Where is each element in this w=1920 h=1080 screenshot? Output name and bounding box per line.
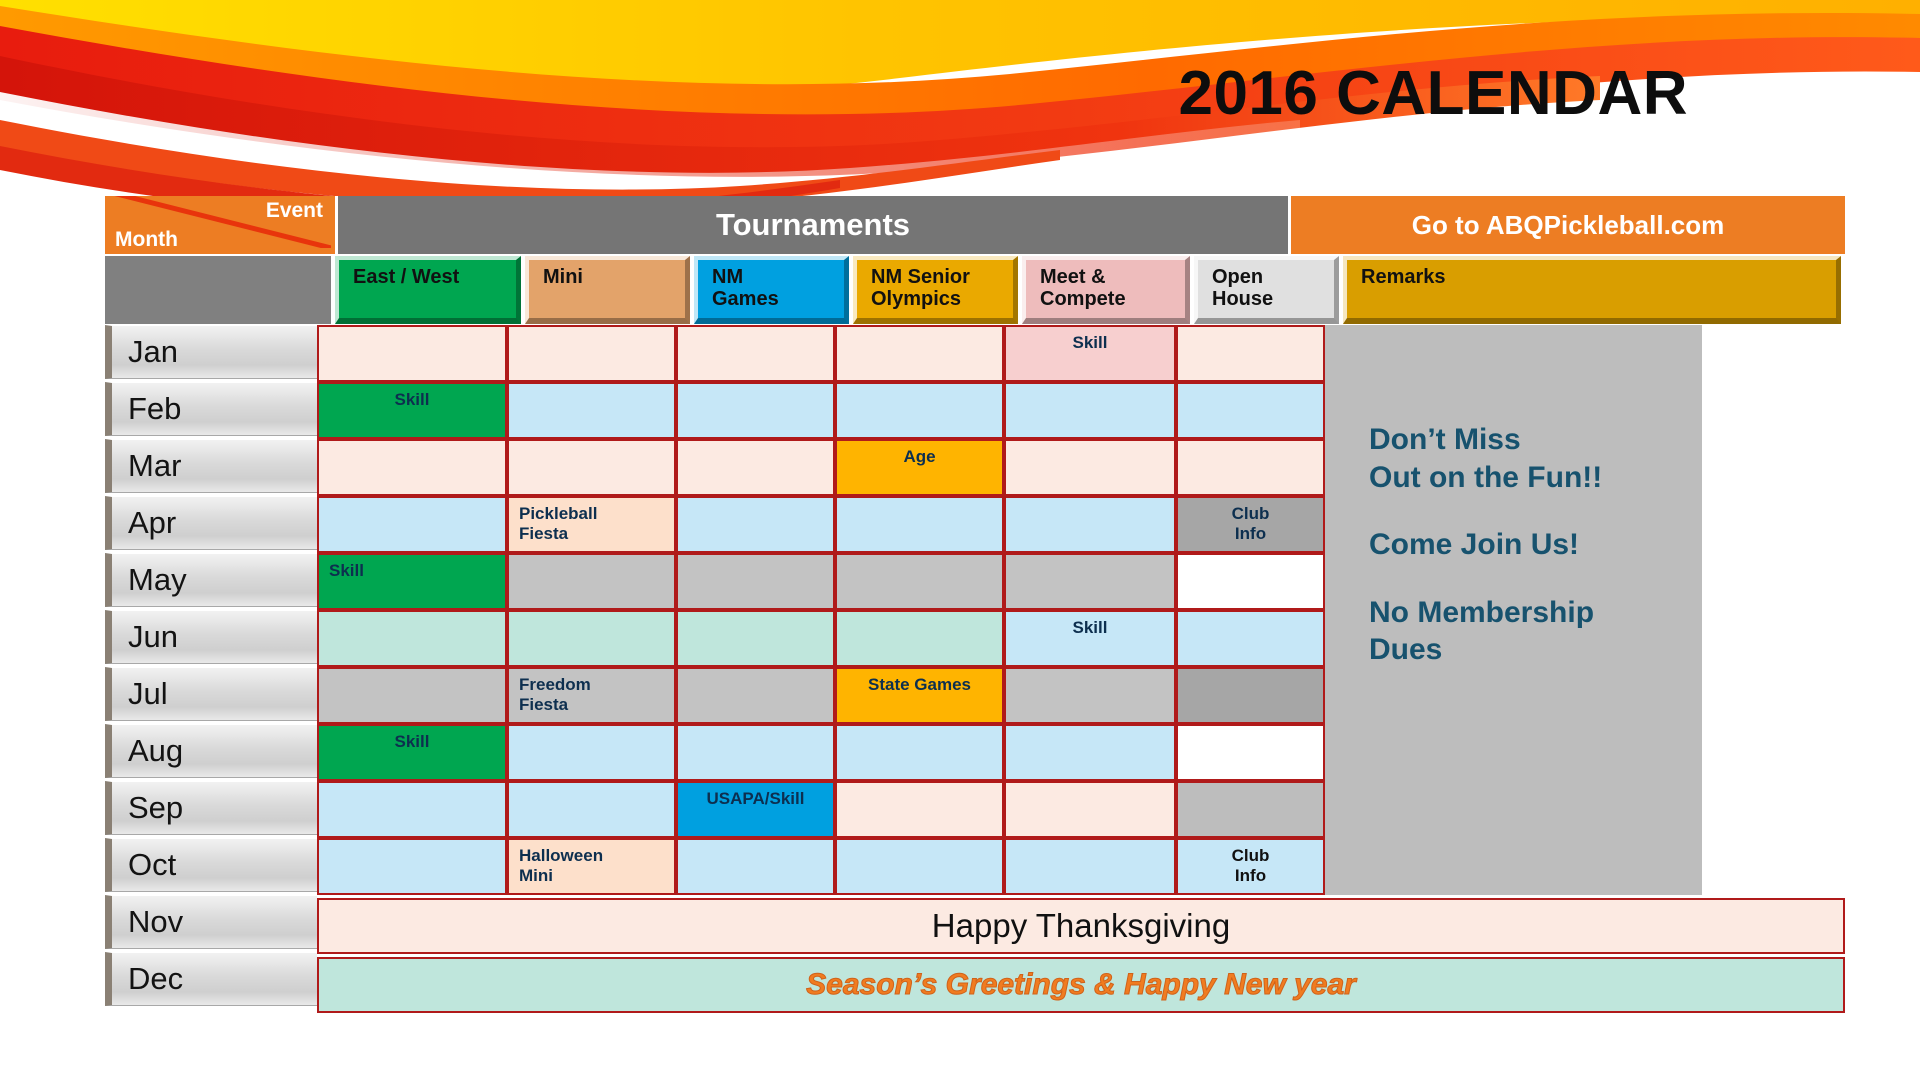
column-header-nm-games[interactable]: NM Games bbox=[694, 256, 849, 324]
corner-month-label: Month bbox=[115, 228, 178, 252]
event-cell[interactable] bbox=[317, 439, 507, 496]
event-cell[interactable] bbox=[676, 382, 835, 439]
website-link-header[interactable]: Go to ABQPickleball.com bbox=[1291, 196, 1845, 254]
event-cell[interactable] bbox=[835, 838, 1004, 895]
event-cell[interactable] bbox=[1004, 553, 1176, 610]
column-header-nm-games-line2: Games bbox=[712, 288, 844, 310]
column-header-remarks[interactable]: Remarks bbox=[1343, 256, 1841, 324]
table-row: Age bbox=[317, 439, 1325, 496]
event-cell[interactable] bbox=[676, 838, 835, 895]
column-header-mini-label: Mini bbox=[543, 266, 685, 288]
month-cell[interactable]: Aug bbox=[105, 724, 317, 778]
remarks-line-5: Dues bbox=[1369, 633, 1442, 666]
event-cell[interactable]: Skill bbox=[317, 724, 507, 781]
column-header-nm-senior-olympics[interactable]: NM Senior Olympics bbox=[853, 256, 1018, 324]
event-cell[interactable] bbox=[835, 724, 1004, 781]
event-cell[interactable] bbox=[835, 553, 1004, 610]
event-cell-line: Mini bbox=[519, 866, 666, 886]
event-cell-line: Fiesta bbox=[519, 524, 666, 544]
event-cell[interactable]: ClubInfo bbox=[1176, 838, 1325, 895]
event-cell[interactable]: ClubInfo bbox=[1176, 496, 1325, 553]
remarks-line-3: Come Join Us! bbox=[1369, 528, 1579, 561]
event-cell[interactable] bbox=[1004, 667, 1176, 724]
event-cell[interactable] bbox=[507, 382, 676, 439]
event-cell-line: Club bbox=[1178, 846, 1323, 866]
event-cell-line: Skill bbox=[1006, 618, 1174, 638]
event-cell-line: Skill bbox=[329, 561, 497, 581]
month-cell[interactable]: Nov bbox=[105, 895, 317, 949]
table-row: USAPA/Skill bbox=[317, 781, 1325, 838]
november-banner-row: Happy Thanksgiving bbox=[317, 898, 1845, 954]
event-cell[interactable] bbox=[507, 553, 676, 610]
column-header-nm-games-line1: NM bbox=[712, 266, 844, 288]
event-cell[interactable] bbox=[1176, 781, 1325, 838]
event-cell[interactable] bbox=[1004, 781, 1176, 838]
december-banner-row: Season’s Greetings & Happy New year bbox=[317, 957, 1845, 1013]
remarks-line-1: Don’t Miss bbox=[1369, 423, 1521, 456]
event-cell[interactable] bbox=[1176, 667, 1325, 724]
event-cell[interactable] bbox=[1176, 610, 1325, 667]
column-header-meet-compete-line1: Meet & bbox=[1040, 266, 1185, 288]
event-cell[interactable] bbox=[1004, 382, 1176, 439]
event-cell-line: Freedom bbox=[519, 675, 666, 695]
event-cell[interactable] bbox=[507, 610, 676, 667]
calendar-table: Event Month Tournaments Go to ABQPickleb… bbox=[105, 196, 1845, 1013]
event-cell[interactable] bbox=[317, 610, 507, 667]
event-cell[interactable] bbox=[317, 838, 507, 895]
event-cell-line: Fiesta bbox=[519, 695, 666, 715]
event-cell[interactable]: FreedomFiesta bbox=[507, 667, 676, 724]
event-cell[interactable] bbox=[676, 496, 835, 553]
event-cell[interactable] bbox=[1004, 496, 1176, 553]
table-row: Skill bbox=[317, 382, 1325, 439]
event-cell[interactable] bbox=[1176, 439, 1325, 496]
event-cell[interactable]: Skill bbox=[1004, 325, 1176, 382]
event-cell-line: Info bbox=[1178, 866, 1323, 886]
event-cell[interactable] bbox=[1176, 325, 1325, 382]
event-cell[interactable] bbox=[835, 382, 1004, 439]
month-cell[interactable]: Feb bbox=[105, 382, 317, 436]
event-cell[interactable] bbox=[507, 781, 676, 838]
event-cell-line: USAPA/Skill bbox=[678, 789, 833, 809]
event-cell[interactable]: Skill bbox=[1004, 610, 1176, 667]
event-grid: SkillSkillAgePickleballFiestaClubInfoSki… bbox=[317, 325, 1325, 895]
month-cell[interactable]: Jan bbox=[105, 325, 317, 379]
event-cell-line: Skill bbox=[319, 732, 505, 752]
month-cell[interactable]: Jun bbox=[105, 610, 317, 664]
event-cell[interactable] bbox=[676, 610, 835, 667]
corner-event-month-header: Event Month bbox=[105, 196, 338, 254]
column-header-nm-senior-olympics-line2: Olympics bbox=[871, 288, 1013, 310]
event-cell[interactable] bbox=[1176, 724, 1325, 781]
remarks-block-3: No MembershipDues bbox=[1369, 594, 1702, 669]
month-cell[interactable]: Oct bbox=[105, 838, 317, 892]
event-cell[interactable] bbox=[835, 325, 1004, 382]
corner-event-label: Event bbox=[266, 199, 323, 223]
remarks-line-2: Out on the Fun!! bbox=[1369, 461, 1602, 494]
event-cell[interactable] bbox=[676, 439, 835, 496]
table-top-band: Event Month Tournaments Go to ABQPickleb… bbox=[105, 196, 1845, 254]
column-header-row: East / West Mini NM Games NM Senior Olym… bbox=[105, 256, 1845, 324]
event-cell[interactable] bbox=[1176, 382, 1325, 439]
event-cell-line: Halloween bbox=[519, 846, 666, 866]
column-header-east-west[interactable]: East / West bbox=[335, 256, 521, 324]
table-row: FreedomFiestaState Games bbox=[317, 667, 1325, 724]
december-banner-text: Season’s Greetings & Happy New year bbox=[806, 968, 1356, 1002]
event-cell[interactable]: Skill bbox=[317, 382, 507, 439]
remarks-block-2: Come Join Us! bbox=[1369, 526, 1702, 564]
event-cell[interactable] bbox=[507, 325, 676, 382]
column-header-meet-compete-line2: Compete bbox=[1040, 288, 1185, 310]
event-cell-line: Age bbox=[837, 447, 1002, 467]
calendar-grid: JanFebMarAprMayJunJulAugSepOctNovDec Ski… bbox=[105, 325, 1845, 1013]
event-cell[interactable]: PickleballFiesta bbox=[507, 496, 676, 553]
column-header-meet-compete[interactable]: Meet & Compete bbox=[1022, 256, 1190, 324]
event-cell[interactable] bbox=[317, 496, 507, 553]
event-cell[interactable] bbox=[1004, 838, 1176, 895]
event-cell[interactable] bbox=[835, 781, 1004, 838]
event-cell[interactable]: USAPA/Skill bbox=[676, 781, 835, 838]
column-header-mini[interactable]: Mini bbox=[525, 256, 690, 324]
event-cell-line: Skill bbox=[1006, 333, 1174, 353]
event-cell[interactable] bbox=[1176, 553, 1325, 610]
table-row: Skill bbox=[317, 325, 1325, 382]
event-cell[interactable] bbox=[835, 496, 1004, 553]
column-header-open-house-line2: House bbox=[1212, 288, 1334, 310]
event-cell[interactable] bbox=[676, 553, 835, 610]
remarks-panel: Don’t MissOut on the Fun!! Come Join Us!… bbox=[1325, 325, 1702, 895]
event-cell[interactable] bbox=[1004, 724, 1176, 781]
month-cell[interactable]: Apr bbox=[105, 496, 317, 550]
column-header-east-west-label: East / West bbox=[353, 266, 516, 288]
column-header-blank bbox=[105, 256, 331, 324]
event-cell[interactable] bbox=[1004, 439, 1176, 496]
column-header-open-house[interactable]: Open House bbox=[1194, 256, 1339, 324]
event-cell[interactable] bbox=[317, 667, 507, 724]
event-cell[interactable] bbox=[317, 781, 507, 838]
month-cell[interactable]: Sep bbox=[105, 781, 317, 835]
november-banner-text: Happy Thanksgiving bbox=[932, 907, 1230, 945]
table-row: Skill bbox=[317, 724, 1325, 781]
column-header-nm-senior-olympics-line1: NM Senior bbox=[871, 266, 1013, 288]
event-cell[interactable]: HalloweenMini bbox=[507, 838, 676, 895]
column-header-remarks-label: Remarks bbox=[1361, 266, 1836, 288]
event-cell[interactable] bbox=[507, 724, 676, 781]
event-cell[interactable] bbox=[676, 667, 835, 724]
event-cell[interactable] bbox=[676, 724, 835, 781]
column-header-open-house-line1: Open bbox=[1212, 266, 1334, 288]
table-row: PickleballFiestaClubInfo bbox=[317, 496, 1325, 553]
remarks-line-4: No Membership bbox=[1369, 596, 1594, 629]
event-cell[interactable] bbox=[507, 439, 676, 496]
event-cell[interactable]: Age bbox=[835, 439, 1004, 496]
event-cell[interactable]: State Games bbox=[835, 667, 1004, 724]
tournaments-group-header: Tournaments bbox=[338, 196, 1291, 254]
month-cell[interactable]: Dec bbox=[105, 952, 317, 1006]
month-cell[interactable]: Mar bbox=[105, 439, 317, 493]
event-cell-line: State Games bbox=[837, 675, 1002, 695]
month-cell[interactable]: May bbox=[105, 553, 317, 607]
month-cell[interactable]: Jul bbox=[105, 667, 317, 721]
table-row: HalloweenMiniClubInfo bbox=[317, 838, 1325, 895]
event-cell[interactable] bbox=[317, 325, 507, 382]
page-title: 2016 CALENDAR bbox=[1178, 58, 1688, 129]
event-cell[interactable] bbox=[676, 325, 835, 382]
event-cell-line: Pickleball bbox=[519, 504, 666, 524]
event-cell-line: Skill bbox=[319, 390, 505, 410]
remarks-block-1: Don’t MissOut on the Fun!! bbox=[1369, 421, 1702, 496]
event-cell-line: Club bbox=[1178, 504, 1323, 524]
table-row: Skill bbox=[317, 610, 1325, 667]
event-cell-line: Info bbox=[1178, 524, 1323, 544]
table-row: Skill bbox=[317, 553, 1325, 610]
event-cell[interactable]: Skill bbox=[317, 553, 507, 610]
event-cell[interactable] bbox=[835, 610, 1004, 667]
month-column: JanFebMarAprMayJunJulAugSepOctNovDec bbox=[105, 325, 317, 1013]
